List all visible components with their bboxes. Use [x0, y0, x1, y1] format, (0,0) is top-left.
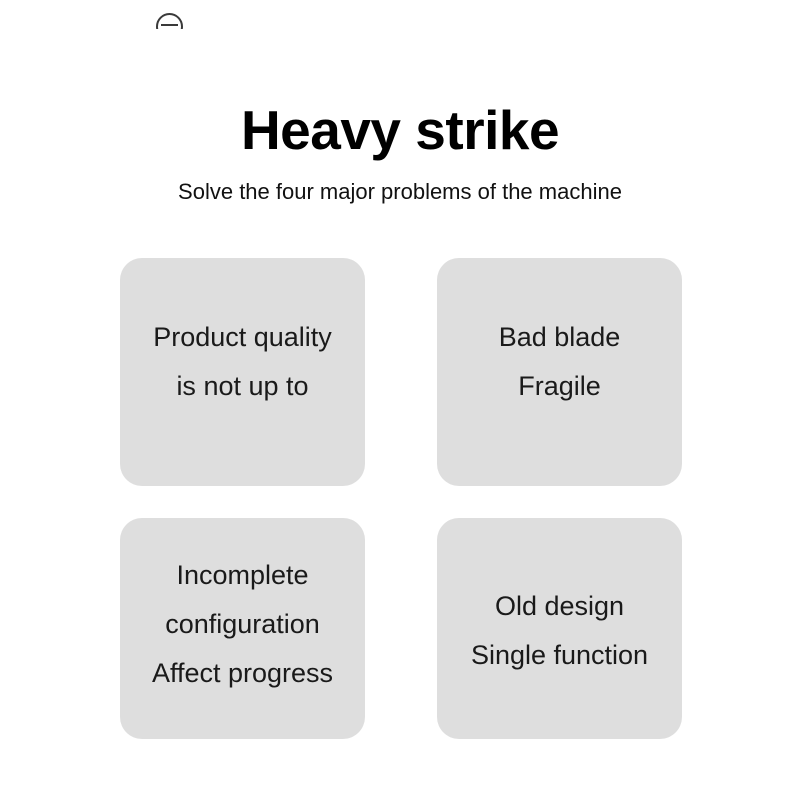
card-text-block: Incomplete configuration Affect progress [152, 551, 333, 698]
card-text-block: Old design Single function [471, 582, 648, 680]
card-line: Single function [471, 631, 648, 680]
card-text-block: Product quality is not up to [153, 313, 332, 411]
card-line: Product quality [153, 313, 332, 362]
problem-card-product-quality[interactable]: Product quality is not up to [120, 258, 365, 486]
card-line: Affect progress [152, 649, 333, 698]
problem-card-incomplete-configuration[interactable]: Incomplete configuration Affect progress [120, 518, 365, 739]
problem-cards-grid: Product quality is not up to Bad blade F… [0, 0, 800, 800]
card-line: Bad blade [499, 313, 621, 362]
card-line: is not up to [176, 362, 308, 411]
card-line: Incomplete [176, 551, 308, 600]
card-line: Old design [495, 582, 624, 631]
card-text-block: Bad blade Fragile [499, 313, 621, 411]
card-line: configuration [165, 600, 320, 649]
card-line: Fragile [518, 362, 601, 411]
problem-card-bad-blade[interactable]: Bad blade Fragile [437, 258, 682, 486]
problem-card-old-design[interactable]: Old design Single function [437, 518, 682, 739]
